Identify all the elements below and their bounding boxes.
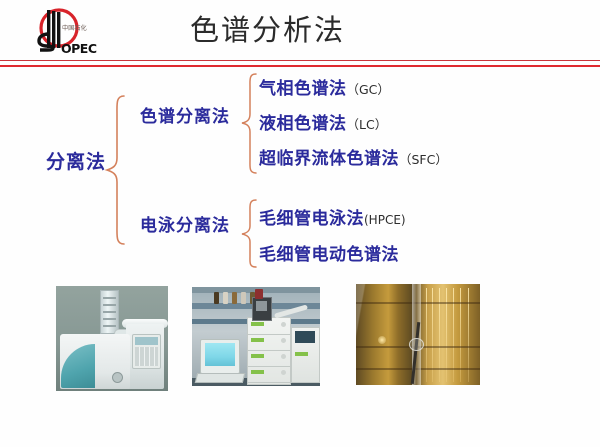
leaf-lc-tag: （LC） [347,117,388,132]
leaf-hpce: 毛细管电泳法(HPCE) [259,204,406,229]
page-title: 色谱分析法 [190,8,490,52]
leaf-gc: 气相色谱法（GC） [259,74,390,99]
leaf-hpce-tag: (HPCE) [364,213,406,227]
leaf-gc-tag: （GC） [347,82,390,97]
svg-text:中国石化: 中国石化 [62,24,87,32]
svg-text:OPEC: OPEC [61,41,97,56]
leaf-mekc-label: 毛细管电动色谱法 [259,245,399,265]
leaf-mekc: 毛细管电动色谱法 [259,240,399,265]
leaf-lc: 液相色谱法（LC） [259,109,387,134]
brace-root [104,94,126,246]
capillary-columns-photo: 毛细管色谱柱 [356,284,480,385]
hplc-system-photo: 液相色谱系统与计算机工作站 [192,287,320,386]
tree-branch-label-electrophoresis: 电泳分离法 [140,211,230,236]
leaf-lc-label: 液相色谱法 [259,114,347,134]
leaf-sfc: 超临界流体色谱法（SFC） [259,144,448,169]
leaf-sfc-label: 超临界流体色谱法 [259,149,399,169]
brace-chromatography [240,72,258,176]
leaf-hpce-label: 毛细管电泳法 [259,209,364,229]
leaf-sfc-tag: （SFC） [399,152,448,167]
classification-tree: 分离法 色谱分离法 电泳分离法 气相色谱法（GC） 液相色谱法（LC） [0,68,600,268]
brace-electrophoresis [240,198,258,270]
sinopec-logo: OPEC 中国石化 [27,6,103,58]
tree-root-label: 分离法 [46,147,106,174]
title-divider [0,60,600,67]
tree-branch-label-chromatography: 色谱分离法 [140,102,230,127]
slide-canvas: OPEC 中国石化 色谱分析法 分离法 色谱分离法 电泳分离法 [0,0,600,447]
gas-chromatograph-photo: 气相色谱仪 [56,286,168,391]
leaf-gc-label: 气相色谱法 [259,79,347,99]
